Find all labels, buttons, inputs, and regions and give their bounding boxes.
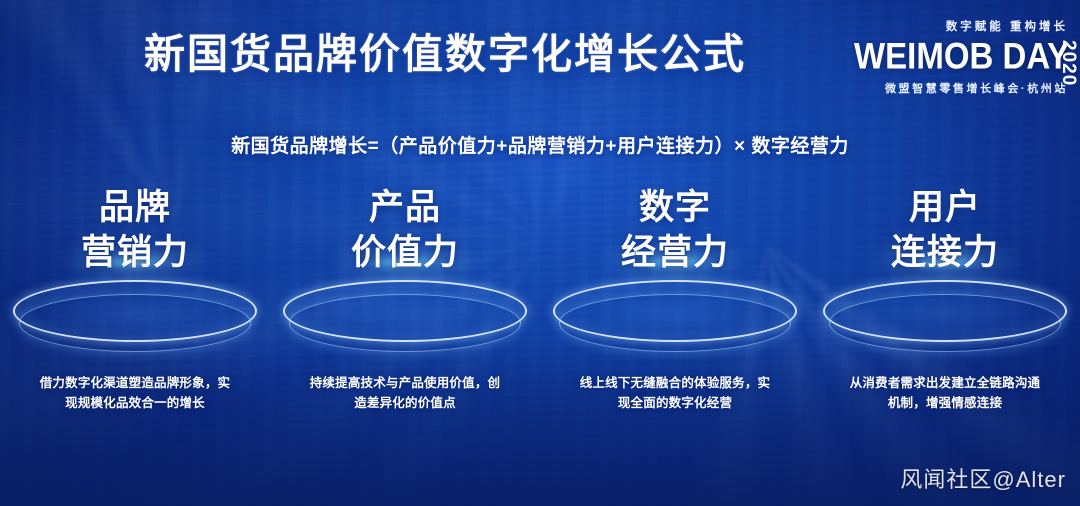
logo-tagline: 数字赋能 重构增长 [854,18,1072,34]
pedestal-ring-outer [823,280,1067,342]
pedestal-ring-outer [553,280,797,342]
growth-formula: 新国货品牌增长=（产品价值力+品牌营销力+用户连接力）× 数字经营力 [0,131,1080,158]
pedestal-fill [16,283,254,339]
pedestal-ring-inner [829,294,1061,352]
logo-year: 2020 [1059,40,1078,86]
pillar-label-line2: 经营力 [540,231,810,276]
pedestal-fill [826,283,1064,339]
pillar-label-line1: 产品 [270,186,540,231]
pillar-label-line2: 连接力 [810,231,1080,276]
watermark: 风闻社区@Alter [900,462,1066,494]
logo-subtitle: 微盟智慧零售增长峰会·杭州站 [854,80,1072,96]
event-logo: 数字赋能 重构增长 WEIMOB DAY 2020 微盟智慧零售增长峰会·杭州站 [854,18,1072,98]
pedestal-ring-inner [289,294,521,352]
pillar-description: 持续提高技术与产品使用价值，创造差异化的价值点 [307,373,503,414]
pillar-label-line2: 营销力 [0,231,270,276]
pedestal-fill [286,283,524,339]
pedestal-fill [556,283,794,339]
pillar-label-line2: 价值力 [270,231,540,276]
pedestal-ring-inner [19,294,251,352]
pillar-label: 数字 经营力 [540,186,810,276]
pillar-label-line1: 数字 [540,186,810,231]
slide-canvas: 新国货品牌价值数字化增长公式 数字赋能 重构增长 WEIMOB DAY 2020… [0,0,1080,506]
pedestal-ring-outer [13,280,257,342]
pillar-description: 从消费者需求出发建立全链路沟通机制，增强情感连接 [847,373,1043,414]
pillar-product-value: 产品 价值力 持续提高技术与产品使用价值，创造差异化的价值点 [270,186,540,476]
pillar-brand-marketing: 品牌 营销力 借力数字化渠道塑造品牌形象，实现规模化品效合一的增长 [0,186,270,476]
pedestal-disc [283,280,527,358]
pillar-label-line1: 品牌 [0,186,270,231]
pillar-digital-operation: 数字 经营力 线上线下无缝融合的体验服务，实现全面的数字化经营 [540,186,810,476]
pillar-label: 用户 连接力 [810,186,1080,276]
pillar-label: 产品 价值力 [270,186,540,276]
pedestal-disc [13,280,257,358]
pedestal-disc [823,280,1067,358]
logo-wordmark: WEIMOB DAY [854,34,1072,79]
pillar-row: 品牌 营销力 借力数字化渠道塑造品牌形象，实现规模化品效合一的增长 产品 价值力 [0,186,1080,476]
pillar-label-line1: 用户 [810,186,1080,231]
pedestal-ring-inner [559,294,791,352]
pillar-description: 线上线下无缝融合的体验服务，实现全面的数字化经营 [577,373,773,414]
pedestal-ring-outer [283,280,527,342]
pillar-user-connection: 用户 连接力 从消费者需求出发建立全链路沟通机制，增强情感连接 [810,186,1080,476]
logo-main-row: WEIMOB DAY 2020 [854,36,1072,76]
pedestal-disc [553,280,797,358]
pillar-label: 品牌 营销力 [0,186,270,276]
pillar-description: 借力数字化渠道塑造品牌形象，实现规模化品效合一的增长 [37,373,233,414]
